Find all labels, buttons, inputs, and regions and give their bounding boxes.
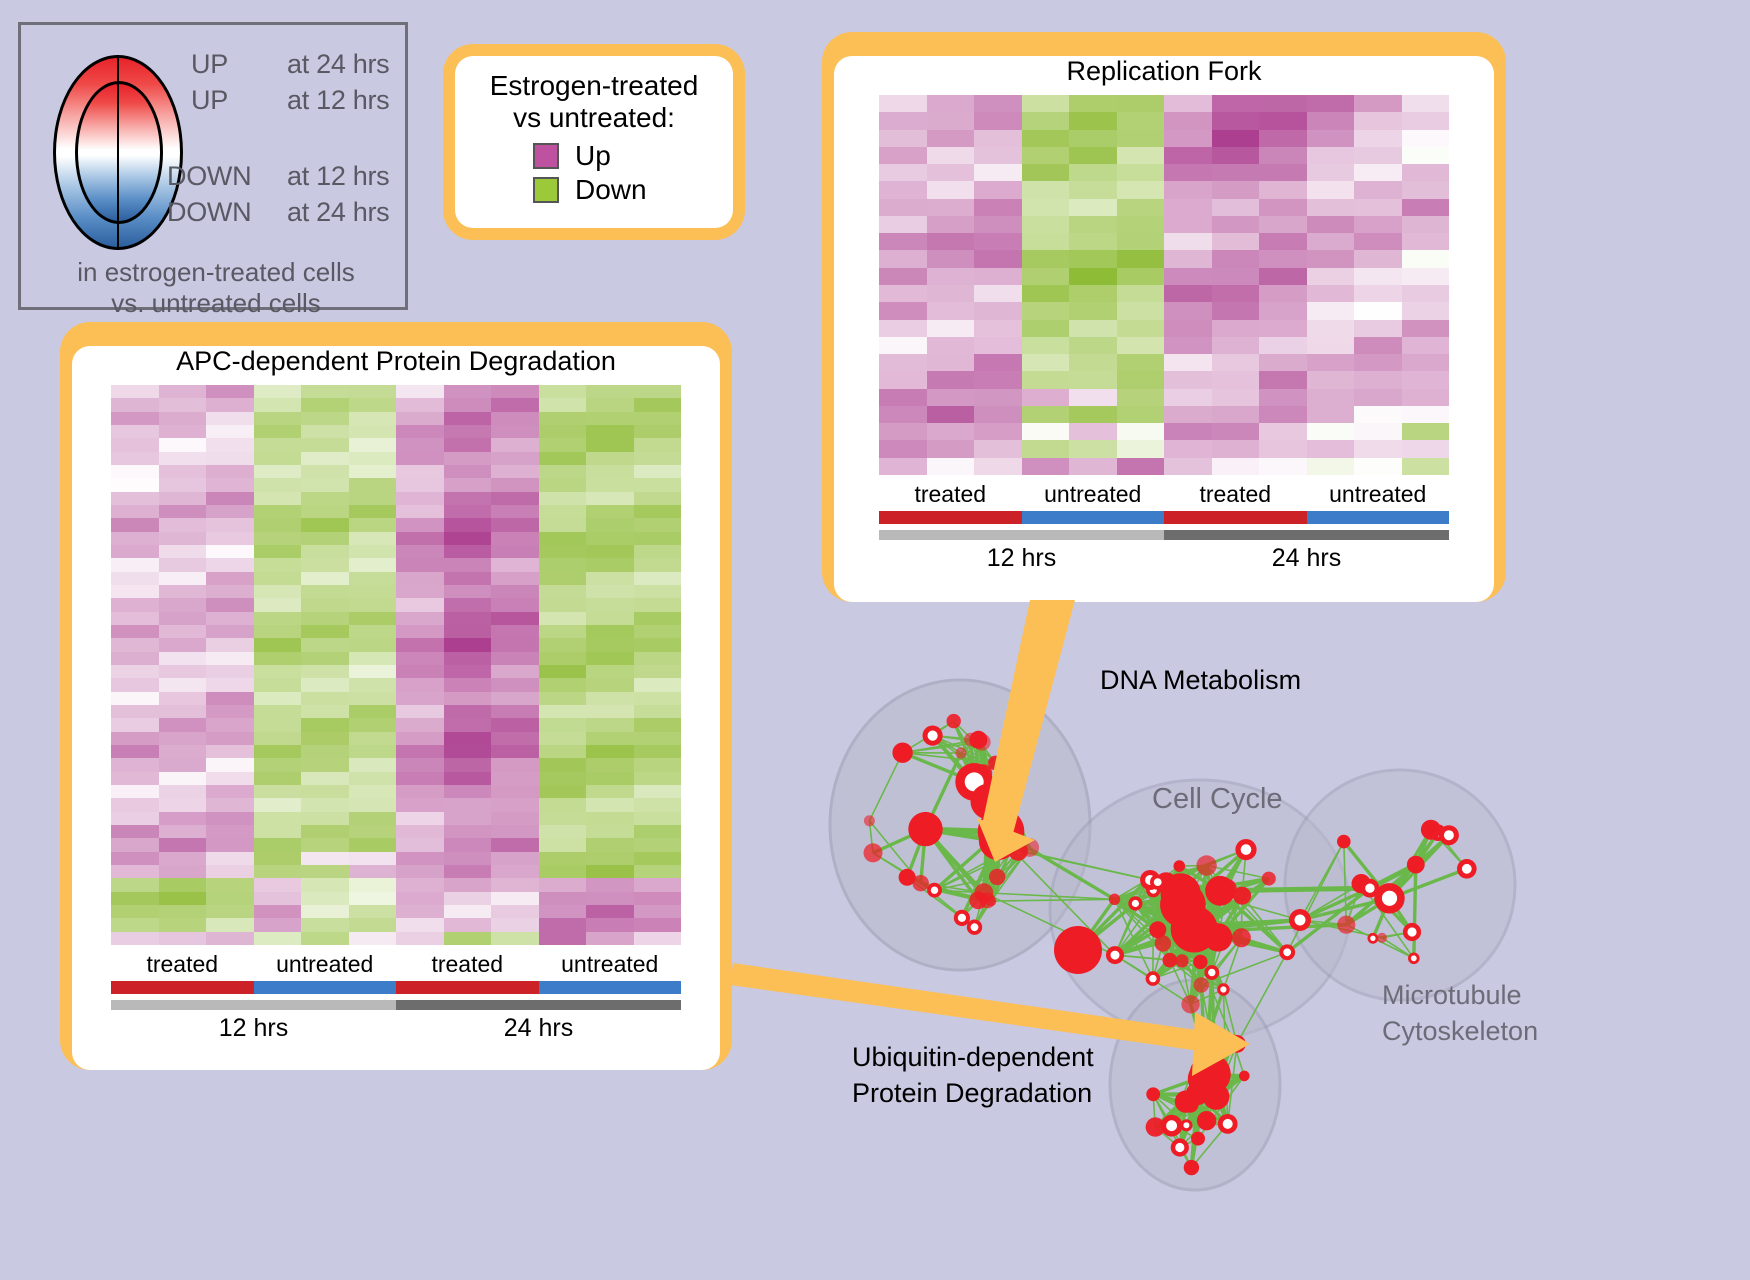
heatmap-cell — [301, 465, 349, 478]
heatmap-cell — [927, 233, 975, 250]
heatmap-cell — [444, 598, 492, 611]
heatmap-cell — [349, 572, 397, 585]
heatmap-cell — [206, 398, 254, 411]
heatmap-cell — [301, 918, 349, 931]
heatmap-cell — [1259, 371, 1307, 388]
heatmap-cell — [349, 692, 397, 705]
heatmap-cell — [974, 302, 1022, 319]
heatmap-cell — [879, 354, 927, 371]
heatmap-cell — [254, 905, 302, 918]
heatmap-cell — [634, 412, 682, 425]
network-node[interactable] — [1020, 838, 1039, 857]
heatmap-cell — [1022, 112, 1070, 129]
heatmap-cell — [974, 440, 1022, 457]
network-node[interactable] — [971, 784, 1007, 820]
heatmap-cell — [1402, 112, 1450, 129]
heatmap-apc — [111, 385, 681, 945]
heatmap-cell — [1164, 458, 1212, 475]
heatmap-cell — [1212, 112, 1260, 129]
heatmap-cell — [1069, 423, 1117, 440]
heatmap-cell — [1259, 406, 1307, 423]
heatmap-cell — [1259, 95, 1307, 112]
heatmap-cell — [927, 181, 975, 198]
heatmap-cell — [1212, 371, 1260, 388]
heatmap-cell — [491, 425, 539, 438]
heatmap-cell — [159, 438, 207, 451]
heatmap-cell — [396, 545, 444, 558]
heatmap-cell — [1164, 440, 1212, 457]
heatmap-cell — [879, 389, 927, 406]
network-node[interactable] — [908, 812, 942, 846]
heatmap-cell — [634, 492, 682, 505]
heatmap-cell — [1069, 164, 1117, 181]
network-node[interactable] — [864, 815, 875, 826]
heatmap-cell — [159, 692, 207, 705]
heatmap-cell — [974, 371, 1022, 388]
heatmap-cell — [586, 892, 634, 905]
heatmap-cell — [396, 625, 444, 638]
heatmap-cell — [1069, 337, 1117, 354]
heatmap-cell — [1402, 423, 1450, 440]
heatmap-cell — [1164, 337, 1212, 354]
heatmap-cell — [111, 918, 159, 931]
heatmap-cell — [491, 598, 539, 611]
heatmap-cell — [1164, 250, 1212, 267]
network-node[interactable] — [1262, 872, 1276, 886]
heatmap-cell — [206, 678, 254, 691]
network-node[interactable] — [1232, 928, 1251, 947]
heatmap-cell — [1022, 250, 1070, 267]
heatmap-cell — [491, 812, 539, 825]
network-node-core — [903, 873, 911, 881]
heatmap-cell — [301, 692, 349, 705]
heatmap-cell — [1307, 302, 1355, 319]
heatmap-cell — [159, 532, 207, 545]
heatmap-cell — [396, 465, 444, 478]
heatmap-cell — [634, 518, 682, 531]
heatmap-cell — [396, 838, 444, 851]
sample-label-3: untreated — [1307, 481, 1450, 508]
wheel-note-line1: in estrogen-treated cells — [21, 257, 411, 288]
heatmap-cell — [1069, 250, 1117, 267]
heatmap-cell — [1259, 130, 1307, 147]
heatmap-cell — [254, 452, 302, 465]
heatmap-cell — [1117, 164, 1165, 181]
sample-bar-segment-0 — [879, 511, 1022, 524]
heatmap-cell — [444, 825, 492, 838]
heatmap-cell — [159, 412, 207, 425]
heatmap-cell — [349, 705, 397, 718]
network-node[interactable] — [1218, 879, 1237, 898]
heatmap-cell — [1354, 389, 1402, 406]
heatmap-cell — [1164, 354, 1212, 371]
heatmap-cell — [1069, 112, 1117, 129]
heatmap-cell — [1022, 371, 1070, 388]
heatmap-cell — [349, 478, 397, 491]
heatmap-cell — [349, 452, 397, 465]
heatmap-cell — [974, 268, 1022, 285]
heatmap-cell — [1117, 147, 1165, 164]
heatmap-cell — [539, 798, 587, 811]
heatmap-cell — [206, 572, 254, 585]
heatmap-cell — [254, 625, 302, 638]
heatmap-cell — [539, 692, 587, 705]
heatmap-cell — [111, 812, 159, 825]
network-node[interactable] — [1196, 855, 1216, 875]
heatmap-cell — [444, 438, 492, 451]
heatmap-cell — [1212, 268, 1260, 285]
heatmap-cell — [111, 825, 159, 838]
heatmap-cell — [206, 598, 254, 611]
heatmap-cell — [491, 745, 539, 758]
heatmap-cell — [927, 147, 975, 164]
heatmap-cell — [1354, 440, 1402, 457]
sample-bar-segment-2 — [1164, 511, 1307, 524]
heatmap-cell — [634, 798, 682, 811]
heatmap-cell — [586, 585, 634, 598]
heatmap-cell — [539, 905, 587, 918]
heatmap-cell — [634, 438, 682, 451]
heatmap-cell — [206, 625, 254, 638]
heatmap-cell — [349, 852, 397, 865]
heatmap-cell — [254, 918, 302, 931]
heatmap-cell — [539, 572, 587, 585]
heatmap-cell — [444, 785, 492, 798]
network-node[interactable] — [1054, 926, 1102, 974]
network-node[interactable] — [1163, 953, 1178, 968]
heatmap-cell — [159, 785, 207, 798]
heatmap-cell — [301, 492, 349, 505]
heatmap-cell — [1212, 216, 1260, 233]
heatmap-cell — [539, 425, 587, 438]
heatmap-cell — [1354, 216, 1402, 233]
heatmap-cell — [1402, 95, 1450, 112]
heatmap-cell — [1307, 440, 1355, 457]
heatmap-cell — [444, 452, 492, 465]
heatmap-cell — [301, 852, 349, 865]
heatmap-cell — [206, 812, 254, 825]
heatmap-cell — [1402, 216, 1450, 233]
heatmap-cell — [111, 438, 159, 451]
heatmap-cell — [974, 406, 1022, 423]
network-node[interactable] — [988, 756, 1003, 771]
heatmap-cell — [111, 838, 159, 851]
network-node[interactable] — [947, 714, 961, 728]
heatmap-cell — [1307, 371, 1355, 388]
network-node-core — [1166, 1120, 1177, 1131]
heatmap-cell — [396, 812, 444, 825]
heatmap-cell — [1259, 423, 1307, 440]
heatmap-cell — [349, 678, 397, 691]
heatmap-cell — [254, 572, 302, 585]
heatmap-cell — [111, 412, 159, 425]
wheel-label-up-12: UP — [191, 85, 228, 116]
heatmap-cell — [974, 337, 1022, 354]
heatmap-cell — [254, 932, 302, 945]
heatmap-cell — [206, 438, 254, 451]
heatmap-cell — [927, 320, 975, 337]
heatmap-cell — [539, 438, 587, 451]
heatmap-cell — [1117, 302, 1165, 319]
heatmap-cell — [111, 398, 159, 411]
heatmap-cell — [1069, 458, 1117, 475]
heatmap-cell — [1164, 406, 1212, 423]
heatmap-cell — [254, 612, 302, 625]
heatmap-cell — [634, 678, 682, 691]
heatmap-cell — [634, 838, 682, 851]
network-node[interactable] — [1146, 1117, 1165, 1136]
heatmap-cell — [1117, 95, 1165, 112]
heatmap-cell — [444, 678, 492, 691]
heatmap-cell — [1022, 199, 1070, 216]
heatmap-cell — [1022, 95, 1070, 112]
heatmap-cell — [974, 320, 1022, 337]
wheel-note-line2: vs. untreated cells — [21, 288, 411, 319]
heatmap-cell — [111, 598, 159, 611]
network-node[interactable] — [989, 869, 1005, 885]
heatmap-cell — [1307, 233, 1355, 250]
network-node-core — [1426, 825, 1436, 835]
heatmap-cell — [1307, 199, 1355, 216]
heatmap-cell — [254, 492, 302, 505]
heatmap-cell — [396, 492, 444, 505]
heatmap-cell — [1117, 406, 1165, 423]
heatmap-cell — [879, 164, 927, 181]
heatmap-cell — [927, 458, 975, 475]
heatmap-cell — [1307, 337, 1355, 354]
legend-label-up: Up — [575, 140, 611, 172]
heatmap-cell — [444, 585, 492, 598]
heatmap-cell — [1117, 440, 1165, 457]
heatmap-cell — [491, 878, 539, 891]
heatmap-cell — [444, 665, 492, 678]
heatmap-cell — [301, 865, 349, 878]
heatmap-cell — [634, 785, 682, 798]
heatmap-cell — [1069, 440, 1117, 457]
network-node[interactable] — [913, 875, 929, 891]
network-node-core — [1283, 948, 1291, 956]
network-node[interactable] — [1186, 1082, 1209, 1105]
heatmap-cell — [491, 398, 539, 411]
network-node[interactable] — [1407, 856, 1425, 874]
heatmap-cell — [491, 825, 539, 838]
heatmap-cell — [1307, 250, 1355, 267]
heatmap-cell — [206, 918, 254, 931]
heatmap-cell — [539, 852, 587, 865]
heatmap-cell — [634, 918, 682, 931]
heatmap-cell — [879, 95, 927, 112]
heatmap-cell — [349, 638, 397, 651]
heatmap-cell — [349, 518, 397, 531]
network-node[interactable] — [1160, 882, 1206, 928]
network-node[interactable] — [1194, 977, 1209, 992]
network-node[interactable] — [864, 843, 883, 862]
heatmap-cell — [539, 398, 587, 411]
network-node[interactable] — [992, 825, 1012, 845]
heatmap-cell — [634, 465, 682, 478]
heatmap-cell — [254, 438, 302, 451]
heatmap-cell — [1402, 199, 1450, 216]
heatmap-cell — [254, 505, 302, 518]
heatmap-cell — [974, 95, 1022, 112]
cluster-label-dna-metabolism: DNA Metabolism — [1100, 665, 1301, 696]
heatmap-cell — [111, 878, 159, 891]
heatmap-cell — [396, 412, 444, 425]
heatmap-cell — [491, 412, 539, 425]
heatmap-cell — [1259, 216, 1307, 233]
heatmap-cell — [1212, 147, 1260, 164]
heatmap-cell — [444, 758, 492, 771]
heatmap-cell — [491, 478, 539, 491]
network-node-core — [1462, 864, 1472, 874]
sample-labels-replication-fork: treateduntreatedtreateduntreated — [879, 481, 1449, 508]
heatmap-cell — [444, 772, 492, 785]
heatmap-cell — [1022, 320, 1070, 337]
heatmap-cell — [1212, 406, 1260, 423]
network-node[interactable] — [1377, 933, 1387, 943]
heatmap-cell — [879, 147, 927, 164]
heatmap-cell — [159, 625, 207, 638]
heatmap-cell — [159, 598, 207, 611]
heatmap-cell — [1212, 354, 1260, 371]
heatmap-cell — [879, 216, 927, 233]
heatmap-cell — [111, 452, 159, 465]
network-node[interactable] — [969, 891, 987, 909]
color-wheel-legend-box: UP at 24 hrs UP at 12 hrs DOWN at 12 hrs… — [18, 22, 408, 310]
heatmap-cell — [927, 164, 975, 181]
heatmap-cell — [586, 545, 634, 558]
sample-label-0: treated — [111, 951, 254, 978]
heatmap-cell — [444, 745, 492, 758]
heatmap-cell — [254, 732, 302, 745]
heatmap-cell — [206, 785, 254, 798]
heatmap-cell — [539, 758, 587, 771]
heatmap-cell — [444, 798, 492, 811]
heatmap-cell — [254, 638, 302, 651]
heatmap-cell — [349, 825, 397, 838]
heatmap-cell — [1354, 423, 1402, 440]
heatmap-cell — [586, 838, 634, 851]
heatmap-cell — [254, 745, 302, 758]
heatmap-cell — [1022, 181, 1070, 198]
network-node-core — [1111, 951, 1120, 960]
heatmap-cell — [349, 838, 397, 851]
network-node[interactable] — [1181, 995, 1199, 1013]
heatmap-cell — [491, 932, 539, 945]
heatmap-cell — [1307, 216, 1355, 233]
heatmap-cell — [254, 425, 302, 438]
heatmap-cell — [1212, 440, 1260, 457]
network-node[interactable] — [1155, 935, 1171, 951]
network-node[interactable] — [1175, 954, 1188, 967]
heatmap-cell — [159, 705, 207, 718]
heatmap-cell — [491, 532, 539, 545]
heatmap-cell — [879, 285, 927, 302]
network-node[interactable] — [955, 748, 966, 759]
heatmap-cell — [1212, 233, 1260, 250]
heatmap-cell — [111, 852, 159, 865]
heatmap-cell — [539, 865, 587, 878]
heatmap-cell — [111, 758, 159, 771]
heatmap-cell — [254, 838, 302, 851]
heatmap-cell — [974, 458, 1022, 475]
heatmap-cell — [1307, 423, 1355, 440]
heatmap-cell — [111, 705, 159, 718]
heatmap-cell — [927, 423, 975, 440]
heatmap-cell — [539, 732, 587, 745]
sample-labels-apc: treateduntreatedtreateduntreated — [111, 951, 681, 978]
heatmap-cell — [1212, 199, 1260, 216]
heatmap-cell — [301, 772, 349, 785]
heatmap-cell — [491, 438, 539, 451]
sample-bar-segment-3 — [1307, 511, 1450, 524]
heatmap-cell — [1307, 130, 1355, 147]
heatmap-cell — [159, 585, 207, 598]
heatmap-cell — [539, 612, 587, 625]
heatmap-cell — [349, 585, 397, 598]
heatmap-cell — [349, 905, 397, 918]
heatmap-cell — [254, 558, 302, 571]
network-node[interactable] — [964, 733, 977, 746]
heatmap-cell — [301, 438, 349, 451]
heatmap-cell — [159, 745, 207, 758]
heatmap-cell — [491, 545, 539, 558]
sample-label-2: treated — [396, 951, 539, 978]
heat-legend-items: Up Down — [455, 140, 733, 206]
heatmap-cell — [1402, 320, 1450, 337]
heatmap-cell — [1354, 199, 1402, 216]
heatmap-cell — [444, 558, 492, 571]
heatmap-cell — [586, 932, 634, 945]
heatmap-cell — [206, 905, 254, 918]
heatmap-cell — [444, 625, 492, 638]
heatmap-cell — [206, 865, 254, 878]
heatmap-cell — [539, 518, 587, 531]
heatmap-cell — [974, 199, 1022, 216]
heatmap-cell — [1354, 458, 1402, 475]
heatmap-cell — [1402, 130, 1450, 147]
heatmap-cell — [879, 423, 927, 440]
heatmap-cell — [491, 385, 539, 398]
heatmap-cell — [539, 452, 587, 465]
heatmap-cell — [974, 233, 1022, 250]
heatmap-cell — [111, 625, 159, 638]
heatmap-cell — [586, 665, 634, 678]
heatmap-cell — [159, 852, 207, 865]
heatmap-cell — [1354, 181, 1402, 198]
heatmap-cell — [1354, 95, 1402, 112]
time-color-bar-apc — [111, 1000, 681, 1010]
network-node[interactable] — [1337, 916, 1355, 934]
heatmap-cell — [539, 878, 587, 891]
heatmap-cell — [1164, 423, 1212, 440]
heatmap-cell — [159, 665, 207, 678]
heatmap-cell — [396, 718, 444, 731]
swatch-up-icon — [533, 143, 559, 169]
heatmap-cell — [444, 705, 492, 718]
heatmap-cell — [1354, 268, 1402, 285]
heatmap-cell — [1164, 112, 1212, 129]
heatmap-cell — [1117, 354, 1165, 371]
heatmap-cell — [1259, 268, 1307, 285]
network-node[interactable] — [1109, 894, 1120, 905]
heatmap-cell — [444, 838, 492, 851]
heatmap-cell — [1307, 285, 1355, 302]
heatmap-cell — [634, 905, 682, 918]
heatmap-cell — [444, 692, 492, 705]
heatmap-cell — [634, 652, 682, 665]
heatmap-cell — [396, 638, 444, 651]
